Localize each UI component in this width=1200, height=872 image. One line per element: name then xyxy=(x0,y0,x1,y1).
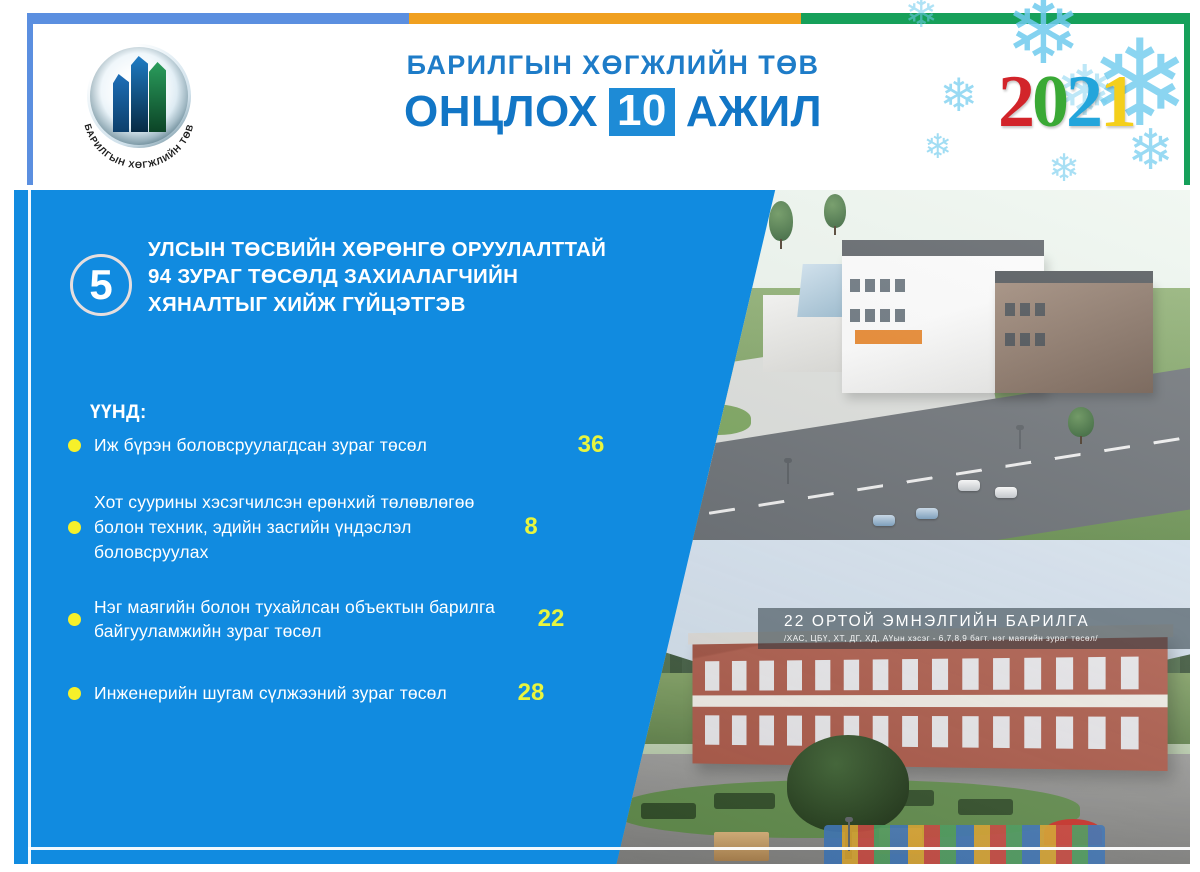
list-item-label: Хот суурины хэсэгчилсэн ерөнхий төлөвлөг… xyxy=(94,490,494,565)
organization-logo: БАРИЛГЫН ХӨГЖЛИЙН ТӨВ xyxy=(69,38,209,178)
panel-inner-rule-left xyxy=(28,190,31,864)
list-item: Инженерийн шугам сүлжээний зураг төсөл 2… xyxy=(68,676,628,710)
headline-line-2: 94 ЗУРАГ ТӨСӨЛД ЗАХИАЛАГЧИЙН xyxy=(148,263,606,290)
bullet-dot-icon xyxy=(68,521,81,534)
list-item-label: Инженерийн шугам сүлжээний зураг төсөл xyxy=(94,681,494,706)
panel-inner-rule-bottom xyxy=(28,847,1190,850)
caption-hospital-title: 22 ОРТОЙ ЭМНЭЛГИЙН БАРИЛГА xyxy=(784,613,1180,631)
headline-line-3: ХЯНАЛТЫГ ХИЙЖ ГҮЙЦЭТГЭВ xyxy=(148,291,606,318)
svg-text:БАРИЛГЫН ХӨГЖЛИЙН ТӨВ: БАРИЛГЫН ХӨГЖЛИЙН ТӨВ xyxy=(82,123,195,170)
photo-overlay-shade xyxy=(580,540,1190,864)
photo-overlay-shade xyxy=(580,190,1190,540)
list-item-value: 28 xyxy=(494,679,568,707)
photo-tree xyxy=(653,295,683,329)
sublist-label: ҮҮНД: xyxy=(90,402,147,424)
section-headline-text: УЛСЫН ТӨСВИЙН ХӨРӨНГӨ ОРУУЛАЛТТАЙ 94 ЗУР… xyxy=(148,236,606,318)
header-rail-right xyxy=(1184,13,1190,185)
main-title: ОНЦЛОХ 10 АЖИЛ xyxy=(333,87,893,137)
header-top-rule xyxy=(27,13,1190,24)
photo-collage xyxy=(580,190,1190,864)
list-item-value: 8 xyxy=(494,513,568,541)
rule-segment-orange xyxy=(409,13,801,24)
bullet-dot-icon xyxy=(68,613,81,626)
rule-segment-green xyxy=(801,13,1190,24)
logo-ring-text: БАРИЛГЫН ХӨГЖЛИЙН ТӨВ xyxy=(69,38,209,178)
caption-hospital: 22 ОРТОЙ ЭМНЭЛГИЙН БАРИЛГА /ХАС, ЦБҮ, ХТ… xyxy=(758,608,1190,649)
photo-school xyxy=(580,540,1190,864)
photo-hospital xyxy=(580,190,1190,540)
organization-title: БАРИЛГЫН ХӨГЖЛИЙН ТӨВ xyxy=(333,50,893,81)
list-item: Иж бүрэн боловсруулагдсан зураг төсөл 36 xyxy=(68,428,628,462)
year-digit-3: 2 xyxy=(1066,61,1100,143)
content-column: 5 УЛСЫН ТӨСВИЙН ХӨРӨНГӨ ОРУУЛАЛТТАЙ 94 З… xyxy=(54,190,644,864)
list-item-label: Нэг маягийн болон тухайлсан объектын бар… xyxy=(94,595,514,645)
year-digit-1: 2 xyxy=(998,61,1032,143)
year-digit-2: 0 xyxy=(1032,61,1066,143)
year-logo: 2021 xyxy=(998,60,1134,145)
body-panel: 22 ОРТОЙ ЭМНЭЛГИЙН БАРИЛГА /ХАС, ЦБҮ, ХТ… xyxy=(14,190,1190,864)
bullet-dot-icon xyxy=(68,439,81,452)
year-digit-4: 1 xyxy=(1100,61,1134,143)
poster-root: ❄ ❄ ❄ ❄ ❄ ❄ ❄ ❄ БАРИЛГЫН ХӨГЖЛИЙН ТӨВ БА… xyxy=(0,0,1200,872)
list-item-value: 36 xyxy=(554,431,628,459)
list-item: Хот суурины хэсэгчилсэн ерөнхий төлөвлөг… xyxy=(68,490,628,565)
main-title-before: ОНЦЛОХ xyxy=(404,87,598,137)
section-headline: 5 УЛСЫН ТӨСВИЙН ХӨРӨНГӨ ОРУУЛАЛТТАЙ 94 З… xyxy=(70,236,606,318)
poster-header: БАРИЛГЫН ХӨГЖЛИЙН ТӨВ БАРИЛГЫН ХӨГЖЛИЙН … xyxy=(33,24,1184,184)
photo-tree xyxy=(714,211,740,245)
rule-segment-blue xyxy=(27,13,409,24)
header-titles: БАРИЛГЫН ХӨГЖЛИЙН ТӨВ ОНЦЛОХ 10 АЖИЛ xyxy=(333,50,893,137)
section-number-badge: 5 xyxy=(70,254,132,316)
main-title-after: АЖИЛ xyxy=(686,87,822,137)
list-item-label: Иж бүрэн боловсруулагдсан зураг төсөл xyxy=(94,433,554,458)
list-item-value: 22 xyxy=(514,605,588,633)
caption-hospital-detail: /ХАС, ЦБҮ, ХТ, ДГ, ХД, АҮын хэсэг - 6,7,… xyxy=(784,634,1180,643)
breakdown-list: Иж бүрэн боловсруулагдсан зураг төсөл 36… xyxy=(68,428,628,710)
main-title-highlight-badge: 10 xyxy=(609,88,675,136)
headline-line-1: УЛСЫН ТӨСВИЙН ХӨРӨНГӨ ОРУУЛАЛТТАЙ xyxy=(148,236,606,263)
list-item: Нэг маягийн болон тухайлсан объектын бар… xyxy=(68,595,628,645)
logo-ring-label: БАРИЛГЫН ХӨГЖЛИЙН ТӨВ xyxy=(82,123,195,170)
bullet-dot-icon xyxy=(68,687,81,700)
